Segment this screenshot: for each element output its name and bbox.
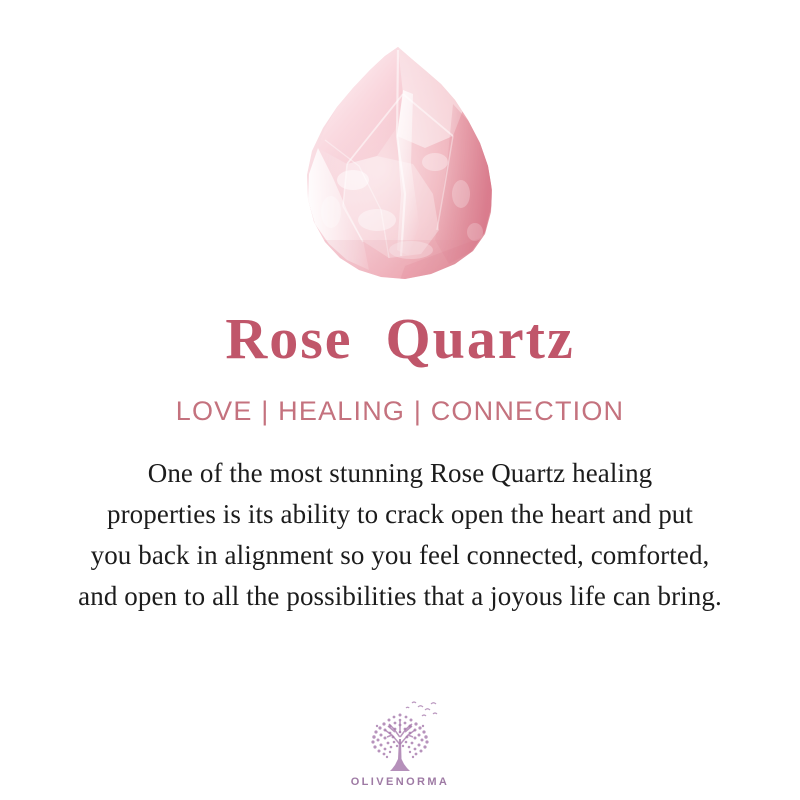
tree-birds [406,702,437,716]
description-line: and open to all the possibilities that a… [30,576,770,617]
product-description: One of the most stunning Rose Quartz hea… [30,453,770,617]
brand-logo: OLIVENORMA [0,699,800,788]
description-line: you back in alignment so you feel connec… [30,535,770,576]
hero-image-container [0,0,800,310]
description-line: One of the most stunning Rose Quartz hea… [30,453,770,494]
olivenorma-tree-icon [354,699,446,775]
brand-wordmark: OLIVENORMA [351,777,450,788]
product-info-card: Rose Quartz LOVE | HEALING | CONNECTION … [0,0,800,800]
description-line: properties is its ability to crack open … [30,494,770,535]
rose-quartz-crystal-image [285,44,515,294]
page-title: Rose Quartz [225,310,574,368]
product-tagline: LOVE | HEALING | CONNECTION [176,398,625,425]
tree-trunk [390,739,410,771]
